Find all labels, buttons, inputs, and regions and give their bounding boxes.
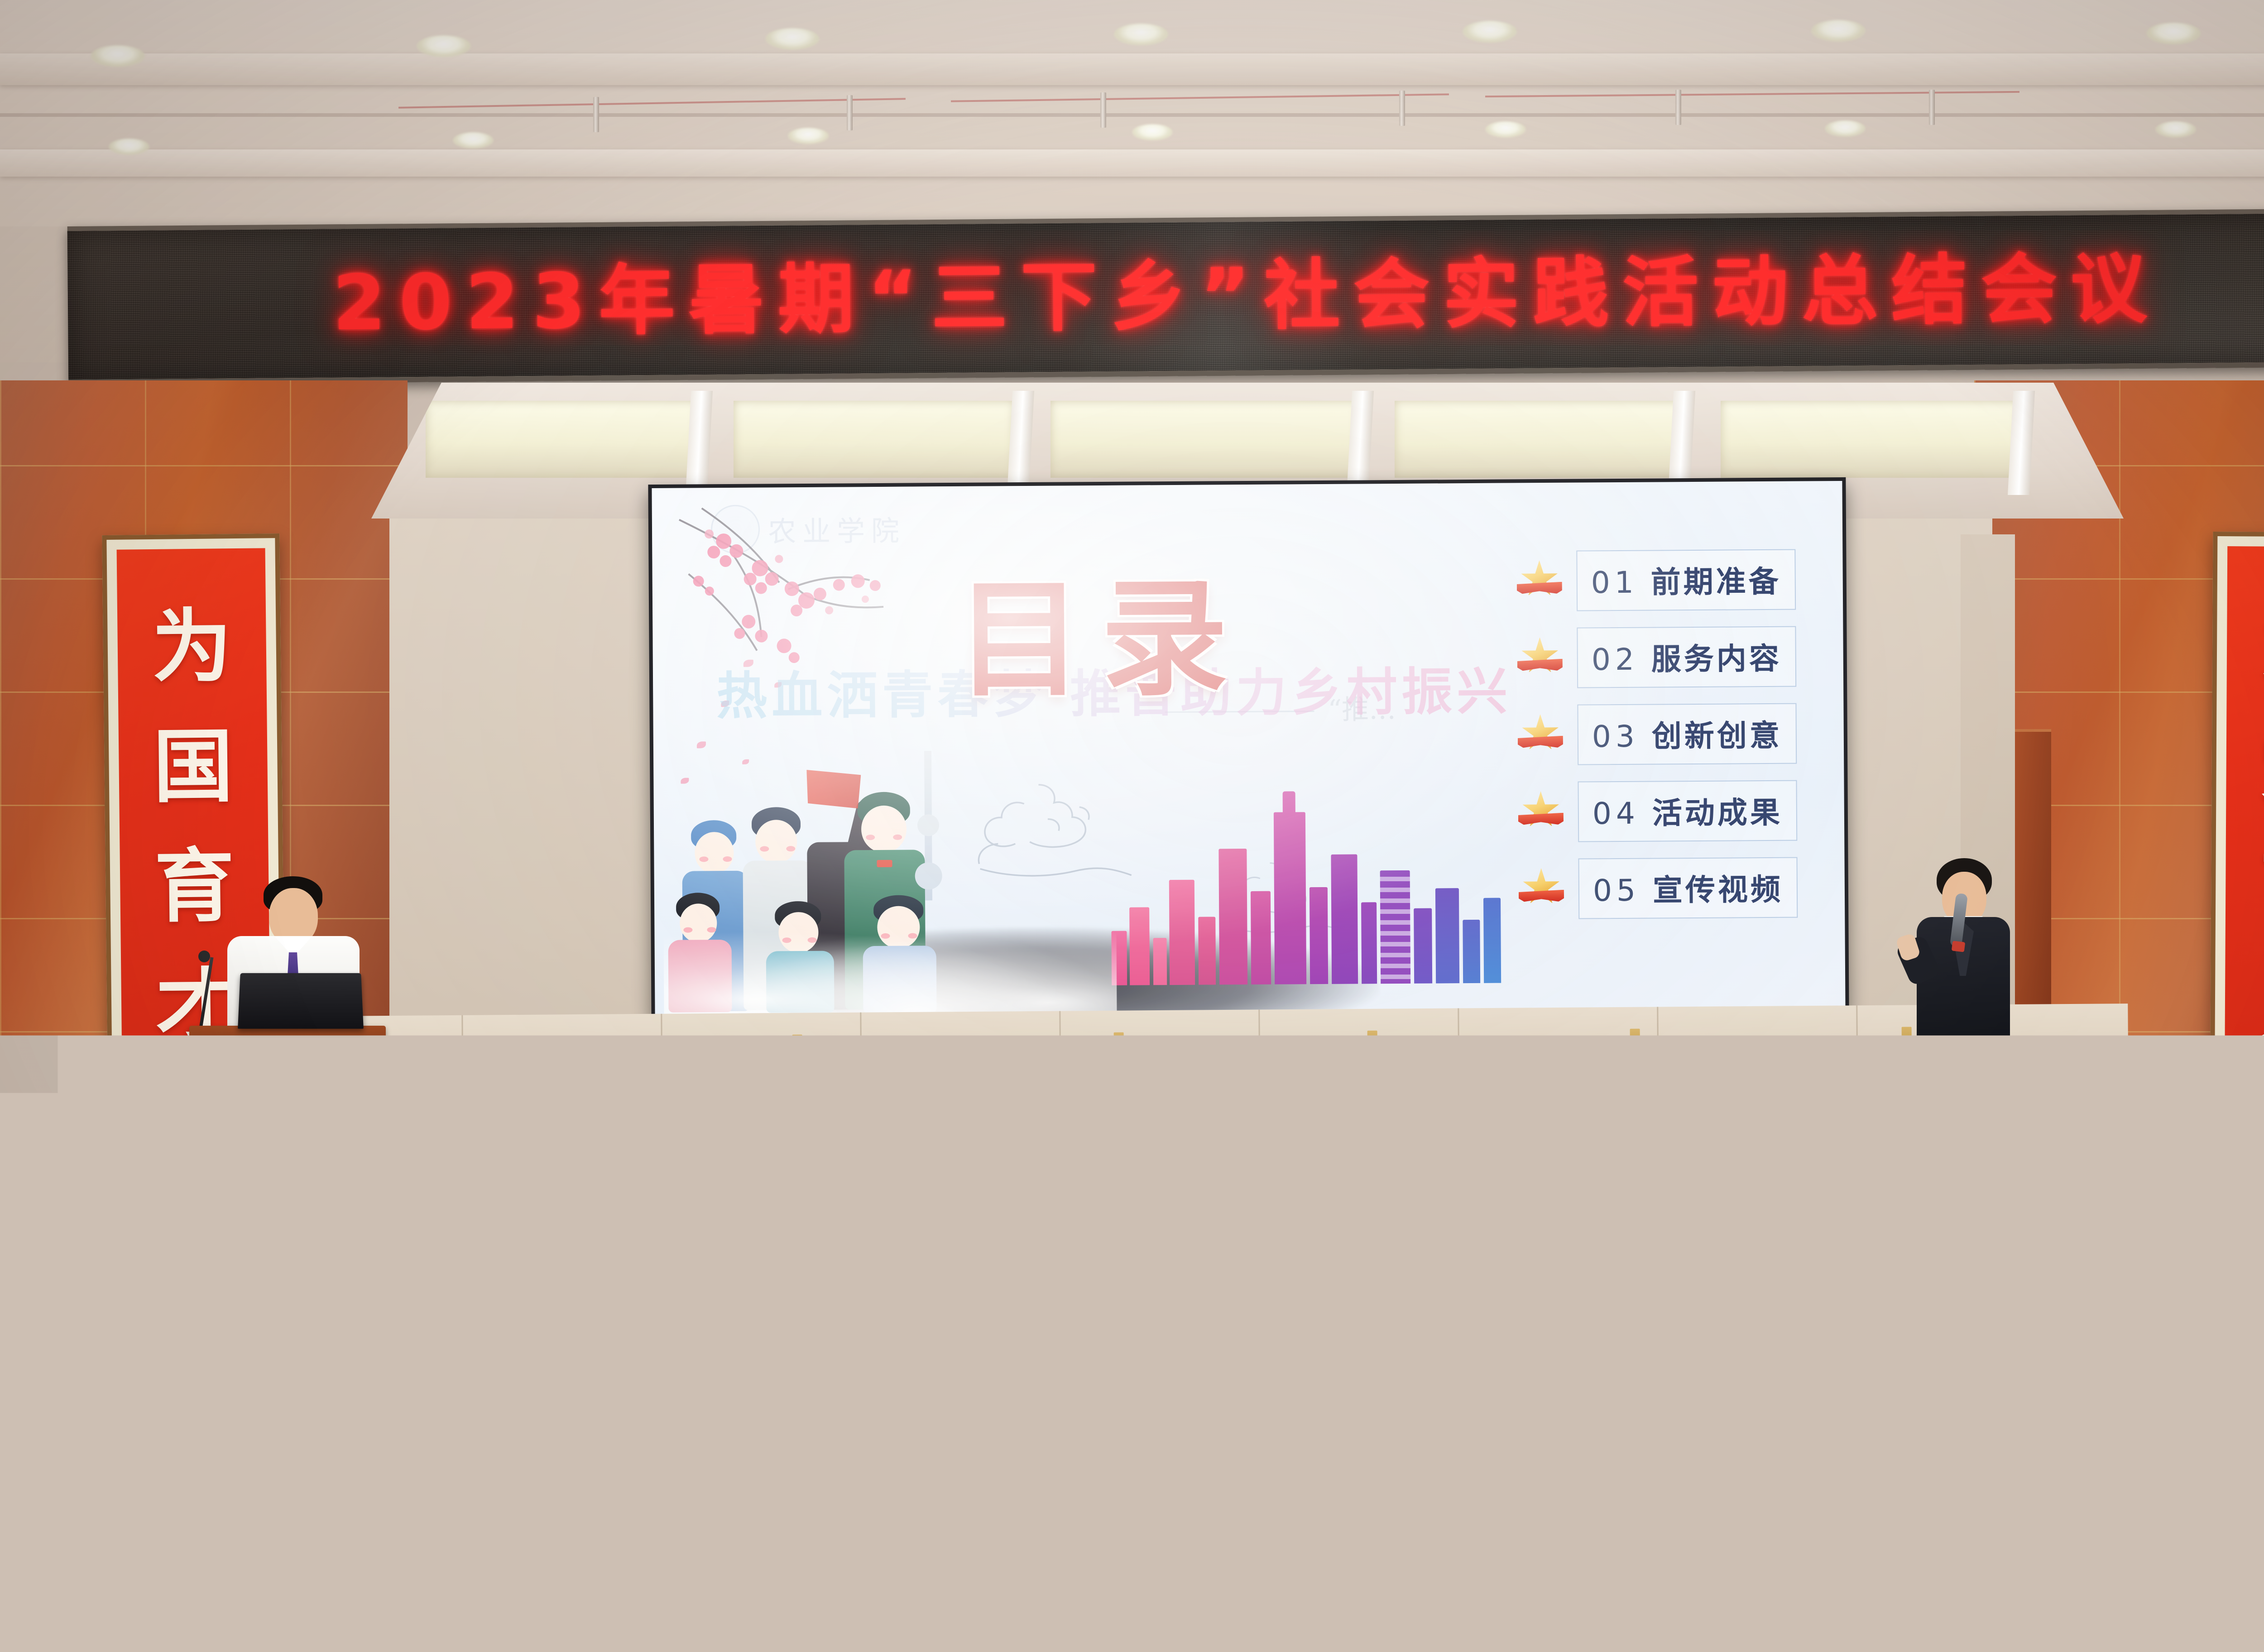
chair (1780, 1484, 1933, 1615)
attendee-head (421, 1330, 496, 1413)
menu-item-box[interactable]: 03 创新创意 (1577, 703, 1797, 765)
menu-item-box[interactable]: 04 活动成果 (1578, 780, 1797, 842)
menu-item[interactable]: 04 活动成果 (1519, 780, 1797, 843)
couplet-right-char-4: 人 (2259, 967, 2264, 1047)
chair (874, 1479, 1028, 1610)
menu-item-number: 02 (1592, 642, 1639, 677)
attendee-cap (1974, 1324, 2058, 1394)
track-light (1100, 92, 1106, 128)
chair (512, 1478, 666, 1609)
attendee-head (113, 1263, 179, 1336)
track-light (1929, 90, 1935, 125)
attendee-head (1055, 1417, 1150, 1520)
menu-item-label: 服务内容 (1651, 634, 1782, 679)
ceiling (0, 0, 2264, 245)
track-light (1675, 90, 1681, 125)
chair (2078, 1608, 2259, 1652)
menu-item[interactable]: 03 创新创意 (1518, 703, 1797, 766)
menu-item[interactable]: 02 服务内容 (1518, 626, 1796, 689)
attendee-head (312, 1264, 379, 1340)
attendee-head (487, 1261, 551, 1333)
slide-title: 目录 (956, 575, 1247, 704)
couplet-right-char-2: 党 (2260, 726, 2264, 806)
led-banner: 2023年暑期“三下乡”社会实践活动总结会议 (67, 208, 2264, 385)
attendee-head (584, 1328, 660, 1413)
projection-screen: 农业学院 (648, 477, 1849, 1019)
microphone-icon (198, 951, 210, 962)
couplet-right-char-1: 为 (2261, 605, 2264, 686)
track-light (847, 95, 853, 130)
audience-seating (0, 1168, 2264, 1652)
attendee-head (1648, 1326, 1730, 1439)
menu-item-number: 01 (1591, 565, 1638, 600)
menu-item-label: 宣传视频 (1653, 865, 1784, 910)
couplet-left-char-3: 育 (154, 846, 235, 927)
star-ribbon-icon (1520, 867, 1564, 911)
track-light (1399, 91, 1405, 126)
menu-item-label: 前期准备 (1650, 557, 1781, 602)
menu-item[interactable]: 01 前期准备 (1517, 549, 1796, 612)
attendee-head (104, 1412, 197, 1514)
menu-item-label: 创新创意 (1652, 711, 1783, 756)
attendee-head (430, 1409, 528, 1545)
chair (1730, 1306, 1843, 1397)
conference-hall-photo: 2023年暑期“三下乡”社会实践活动总结会议 为 国 育 才 为 党 育 人 (0, 0, 2264, 1652)
menu-item-label: 活动成果 (1652, 788, 1783, 833)
attendee-head (1358, 1411, 1458, 1550)
city-skyline-illustration (1111, 793, 1501, 985)
cartoon-crowd-illustration (662, 764, 1117, 1011)
slide-contents-menu: 01 前期准备 02 服务内容 (1517, 549, 1798, 920)
attendee-cap (743, 1422, 845, 1511)
slide-surface: 农业学院 (652, 481, 1845, 1015)
chair (299, 1379, 430, 1488)
menu-item-box[interactable]: 02 服务内容 (1577, 626, 1796, 688)
menu-item-box[interactable]: 01 前期准备 (1576, 549, 1796, 611)
attendee-head (2029, 1417, 2125, 1521)
couplet-banner-right: 为 党 育 人 (2210, 532, 2264, 1121)
track-light (593, 97, 599, 132)
attendee-head (27, 1531, 140, 1652)
led-banner-text: 2023年暑期“三下乡”社会实践活动总结会议 (321, 251, 2161, 341)
menu-item[interactable]: 05 宣传视频 (1520, 857, 1798, 920)
laptop[interactable] (238, 973, 364, 1029)
star-ribbon-icon (1519, 790, 1563, 834)
star-ribbon-icon (1518, 636, 1562, 680)
star-ribbon-icon (1517, 559, 1561, 603)
chair (2142, 1485, 2264, 1617)
attendee-shoulders (2047, 1250, 2146, 1303)
chair (2201, 1388, 2264, 1496)
attendee-head (1693, 1413, 1794, 1551)
wall-panel-left (389, 516, 661, 1019)
star-ribbon-icon (1519, 713, 1563, 757)
couplet-left-char-1: 为 (152, 606, 232, 687)
attendee-head (1105, 1263, 1172, 1338)
couplet-left-char-2: 国 (153, 726, 234, 807)
menu-item-box[interactable]: 05 宣传视频 (1578, 857, 1798, 919)
attendee-cap (743, 1322, 824, 1390)
chair (937, 1236, 1035, 1313)
menu-item-number: 05 (1593, 873, 1640, 908)
menu-item-number: 03 (1592, 719, 1639, 754)
chair (543, 1234, 641, 1311)
chair (589, 1601, 770, 1652)
couplet-right-char-3: 育 (2260, 847, 2264, 927)
chair (1884, 1386, 2015, 1494)
stage-presenter (1909, 858, 2017, 1175)
chair (1440, 1304, 1553, 1395)
chair (0, 1381, 113, 1490)
chair (163, 1602, 344, 1652)
menu-item-number: 04 (1592, 796, 1640, 831)
attendee-head (104, 1326, 180, 1410)
chair (1725, 1239, 1823, 1316)
